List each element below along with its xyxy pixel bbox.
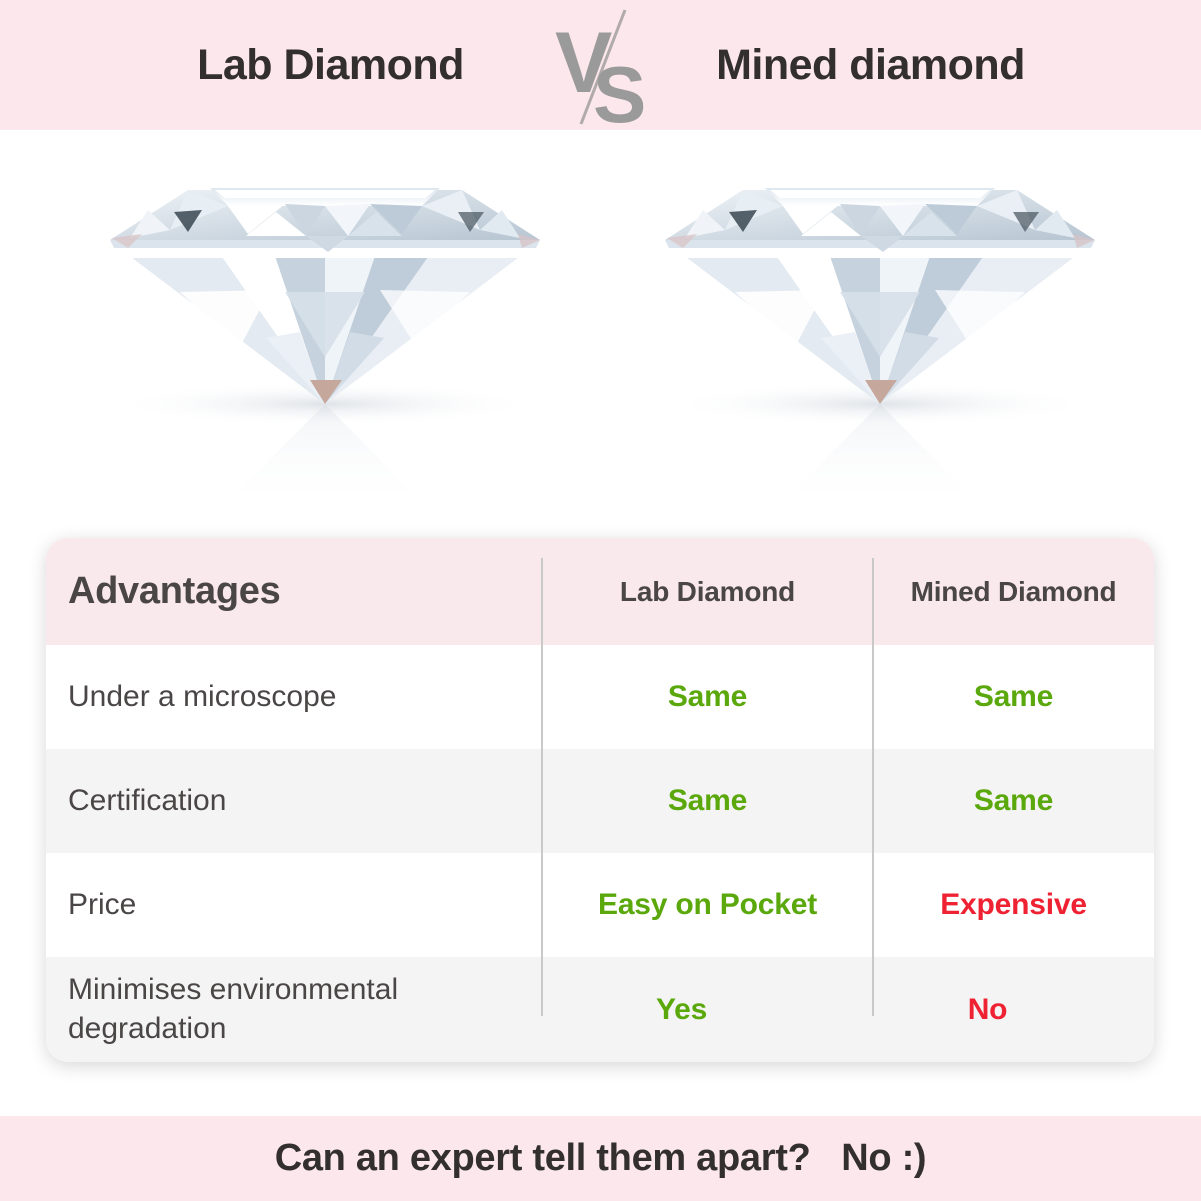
table-row: Minimises environmental degradation Yes … xyxy=(46,957,1154,1062)
header-title-lab-diamond: Lab Diamond xyxy=(121,41,541,90)
lab-diamond-image xyxy=(70,142,580,522)
vs-badge: V S VS xyxy=(541,0,661,130)
header-title-mined-diamond: Mined diamond xyxy=(661,41,1081,90)
column-header-advantages: Advantages xyxy=(46,570,542,613)
footer-band: Can an expert tell them apart? No :) xyxy=(0,1116,1201,1201)
comparison-table: Advantages Lab Diamond Mined Diamond Und… xyxy=(46,538,1154,1062)
row-value-lab: Easy on Pocket xyxy=(542,888,873,922)
row-label: Under a microscope xyxy=(46,678,542,716)
row-value-mined: Expensive xyxy=(873,888,1154,922)
row-label: Minimises environmental degradation xyxy=(46,971,516,1048)
column-header-mined-diamond: Mined Diamond xyxy=(873,576,1154,608)
row-value-lab: Same xyxy=(542,680,873,714)
diamond-stage xyxy=(0,130,1201,530)
svg-text:S: S xyxy=(593,50,646,130)
row-value-mined: No xyxy=(847,993,1128,1027)
column-divider-1 xyxy=(541,558,543,1016)
table-row: Certification Same Same xyxy=(46,749,1154,853)
row-value-mined: Same xyxy=(873,680,1154,714)
row-value-mined: Same xyxy=(873,784,1154,818)
header-band: Lab Diamond V S VS Mined diamond xyxy=(0,0,1201,130)
column-header-lab-diamond: Lab Diamond xyxy=(542,576,873,608)
table-row: Under a microscope Same Same xyxy=(46,645,1154,749)
row-label: Certification xyxy=(46,782,542,820)
table-header-row: Advantages Lab Diamond Mined Diamond xyxy=(46,538,1154,645)
column-divider-2 xyxy=(872,558,874,1016)
mined-diamond-image xyxy=(625,142,1135,522)
comparison-card: Advantages Lab Diamond Mined Diamond Und… xyxy=(46,538,1154,1062)
row-value-lab: Same xyxy=(542,784,873,818)
footer-question: Can an expert tell them apart? No :) xyxy=(275,1137,927,1180)
row-value-lab: Yes xyxy=(516,993,847,1027)
row-label: Price xyxy=(46,886,542,924)
table-row: Price Easy on Pocket Expensive xyxy=(46,853,1154,957)
